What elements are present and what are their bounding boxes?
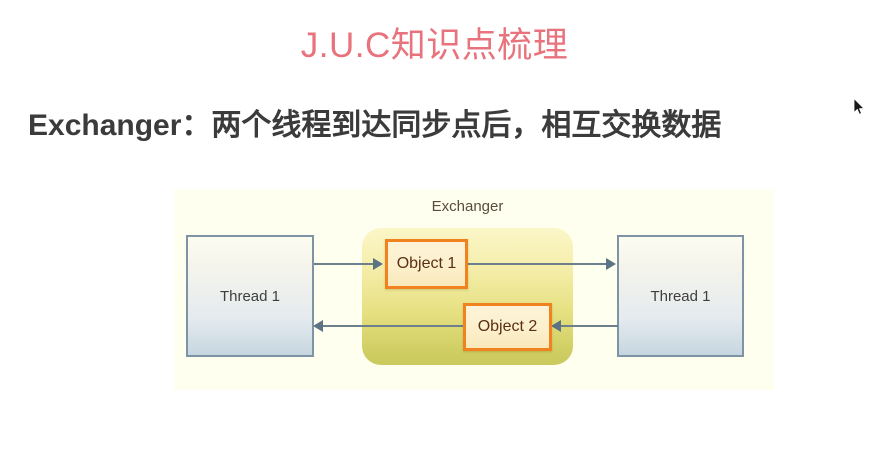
arrow-line-object2-to-thread-left [320, 325, 464, 327]
arrow-head-left-into-object2 [551, 320, 561, 332]
thread-box-left: Thread 1 [186, 235, 314, 357]
page-title: J.U.C知识点梳理 [0, 26, 869, 66]
slide-subtitle: Exchanger：两个线程到达同步点后，相互交换数据 [28, 108, 721, 144]
thread-right-label: Thread 1 [650, 288, 710, 305]
object-2-label: Object 2 [478, 318, 538, 336]
arrow-line-thread-right-to-object2 [554, 325, 618, 327]
arrow-line-thread-left-to-object1 [314, 263, 380, 265]
arrow-line-object1-to-thread-right [468, 263, 608, 265]
thread-left-label: Thread 1 [220, 288, 280, 305]
arrow-head-left-into-thread-left [313, 320, 323, 332]
exchanger-caption-label: Exchanger [362, 198, 573, 215]
arrow-head-right-into-thread-right [606, 258, 616, 270]
object-box-1: Object 1 [385, 239, 468, 289]
exchanger-diagram: Exchanger Thread 1 Thread 1 Object 1 Obj… [174, 189, 774, 390]
arrow-head-right-into-object1 [373, 258, 383, 270]
mouse-pointer-icon [853, 98, 865, 116]
object-1-label: Object 1 [397, 255, 457, 273]
thread-box-right: Thread 1 [617, 235, 744, 357]
object-box-2: Object 2 [463, 303, 552, 351]
